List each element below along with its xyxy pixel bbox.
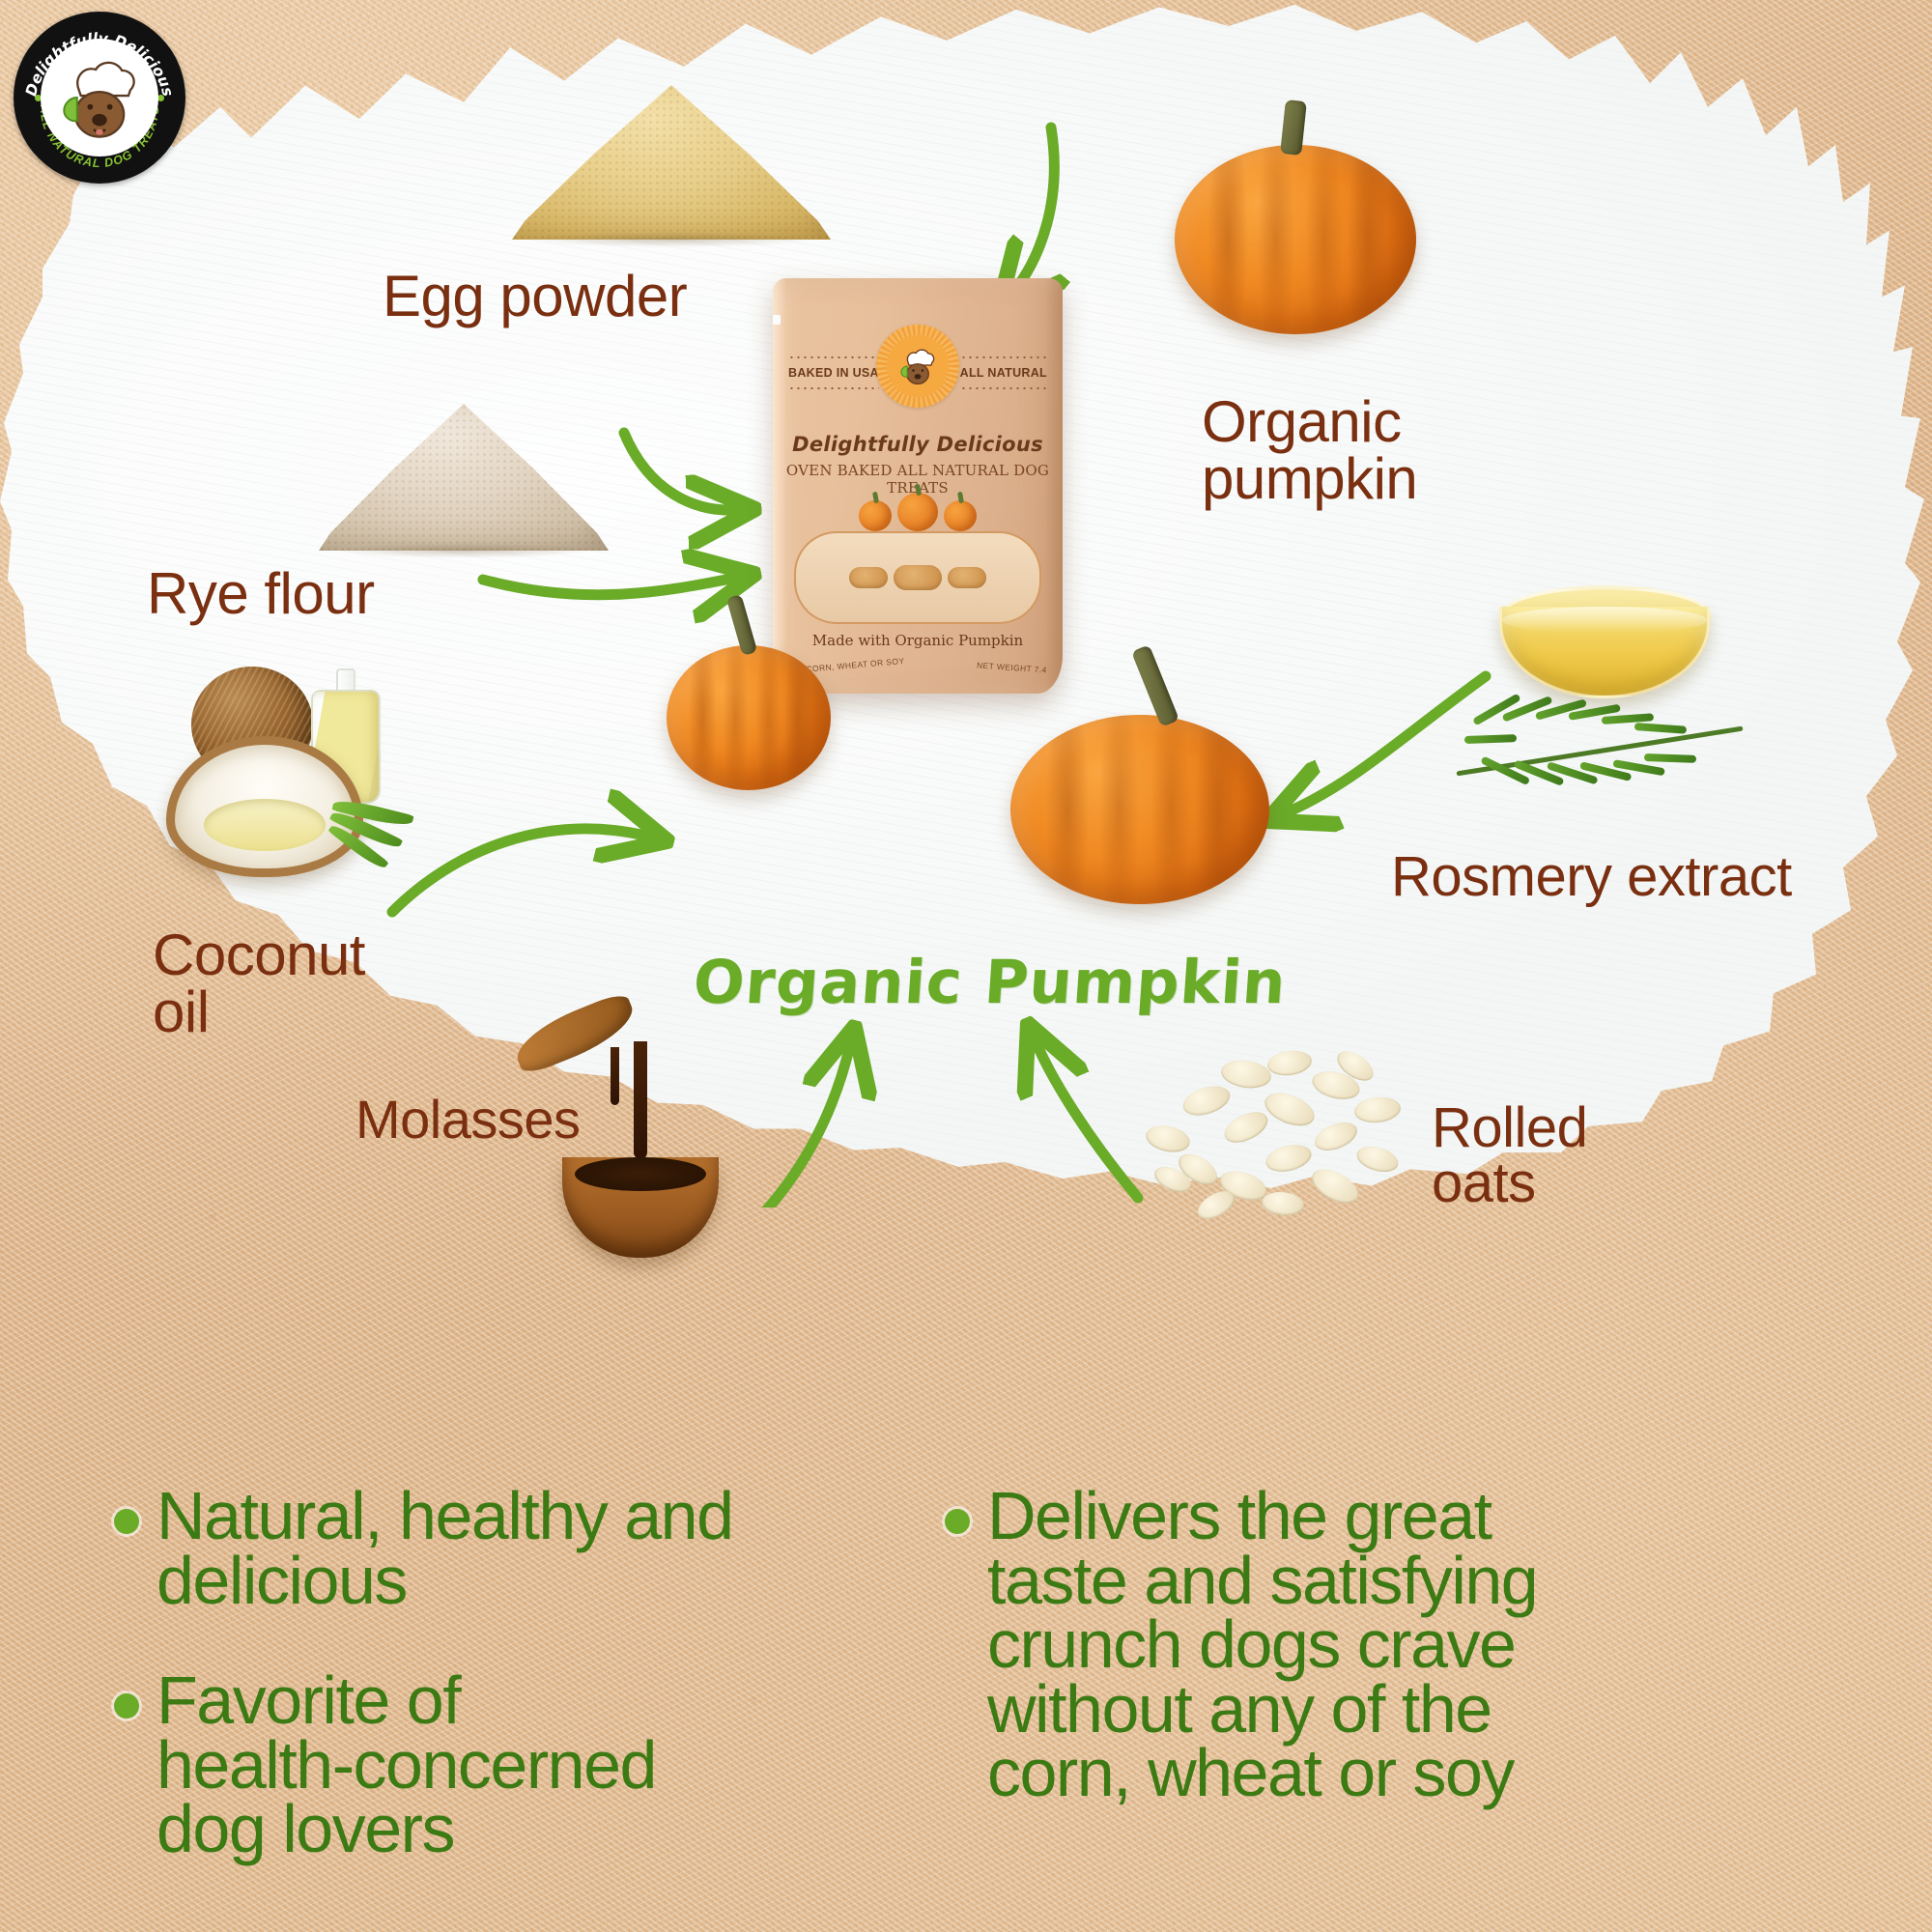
- label-egg-powder: Egg powder: [383, 269, 687, 326]
- pumpkin-front-right-image: [1010, 715, 1269, 904]
- package-seal-starburst-icon: [876, 325, 959, 408]
- benefit-text: Delivers the great taste and satisfying …: [987, 1484, 1537, 1805]
- package-badge-all-natural: ALL NATURAL: [960, 361, 1047, 384]
- benefits-section: Natural, healthy and delicious Favorite …: [114, 1484, 1718, 1918]
- oil-bowl-icon: [1499, 607, 1710, 698]
- pumpkin-front-left-image: [667, 645, 831, 790]
- benefits-column-left: Natural, healthy and delicious Favorite …: [114, 1484, 887, 1918]
- package-net-weight-text: NET WEIGHT 7.4: [977, 660, 1047, 674]
- benefit-text: Favorite of health-concerned dog lovers: [156, 1668, 656, 1861]
- coconut-oil-image: [164, 665, 473, 916]
- bullet-dot-icon: [945, 1509, 970, 1534]
- molasses-drip-icon: [634, 1041, 647, 1159]
- rolled-oats-pile-image: [1138, 1041, 1428, 1246]
- label-rye-flour: Rye flour: [147, 566, 375, 623]
- package-tear-notch: [773, 315, 781, 325]
- logo-dog-chef-icon: [41, 39, 158, 156]
- infographic-canvas: Delightfully Delicious ALL NATURAL DOG T…: [0, 0, 1932, 1932]
- benefit-item: Natural, healthy and delicious: [114, 1484, 887, 1612]
- wooden-spoon-icon: [508, 990, 640, 1076]
- package-pumpkin-illustration: [773, 493, 1063, 531]
- bullet-dot-icon: [114, 1693, 139, 1719]
- egg-powder-mound-image: [512, 85, 831, 240]
- label-rolled-oats: Rolled oats: [1432, 1101, 1587, 1211]
- molasses-bowl-spoon-image: [522, 995, 773, 1304]
- benefit-item: Delivers the great taste and satisfying …: [945, 1484, 1718, 1805]
- label-coconut-oil: Coconut oil: [153, 927, 365, 1041]
- rosemary-oil-bowl-image: [1476, 585, 1824, 837]
- center-heading-organic-pumpkin: Organic Pumpkin: [691, 947, 1289, 1017]
- brand-logo-badge[interactable]: Delightfully Delicious ALL NATURAL DOG T…: [14, 12, 185, 184]
- package-brand-name: Delightfully Delicious: [773, 433, 1063, 456]
- label-rosmery-extract: Rosmery extract: [1391, 850, 1792, 905]
- benefit-text: Natural, healthy and delicious: [156, 1484, 733, 1612]
- whole-pumpkin-image: [1175, 145, 1416, 334]
- product-package[interactable]: BAKED IN USA ALL NATURAL Delightfully De…: [773, 278, 1063, 694]
- molasses-bowl-icon: [562, 1157, 719, 1258]
- rye-flour-mound-image: [319, 404, 609, 551]
- package-badge-baked-in-usa: BAKED IN USA: [788, 361, 879, 384]
- rosemary-sprig-icon: [1455, 699, 1745, 806]
- bullet-dot-icon: [114, 1509, 139, 1534]
- label-organic-pumpkin: Organic pumpkin: [1202, 394, 1417, 508]
- benefits-column-right: Delivers the great taste and satisfying …: [945, 1484, 1718, 1918]
- package-bone-window: [794, 531, 1041, 624]
- molasses-drip-icon: [611, 1047, 619, 1105]
- package-seal-dog-chef-icon: [892, 340, 944, 392]
- logo-dot-right-icon: [157, 95, 164, 101]
- label-molasses: Molasses: [355, 1094, 581, 1147]
- benefit-item: Favorite of health-concerned dog lovers: [114, 1668, 887, 1861]
